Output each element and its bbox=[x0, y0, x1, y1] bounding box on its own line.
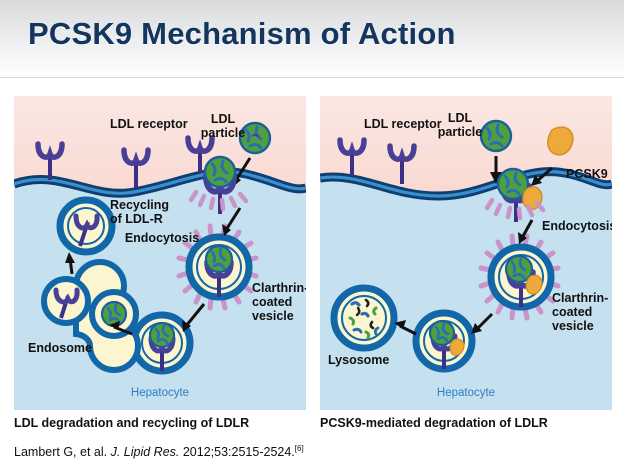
clathrin-label-line2: coated bbox=[252, 295, 292, 309]
ldl-label: LDL bbox=[211, 112, 236, 126]
diagram-panel-ldl-recycling: LDL receptor LDL particle Recycling of L… bbox=[14, 96, 306, 410]
ldl-particle-label: particle bbox=[438, 125, 483, 139]
citation-reference-number: [6] bbox=[295, 444, 304, 453]
panel-left-caption: LDL degradation and recycling of LDLR bbox=[14, 416, 249, 430]
recycling-label-line1: Recycling bbox=[110, 198, 169, 212]
diagram-panel-pcsk9-degradation: LDL receptor LDL particle PCSK9 Endocyto… bbox=[320, 96, 612, 410]
lysosome-label: Lysosome bbox=[328, 353, 389, 367]
page-title: PCSK9 Mechanism of Action bbox=[28, 16, 456, 52]
clathrin-label-line3: vesicle bbox=[252, 309, 294, 323]
citation-authors: Lambert G, et al. bbox=[14, 445, 107, 459]
ldl-particle-label: particle bbox=[201, 126, 246, 140]
recycling-label-line2: of LDL-R bbox=[110, 212, 163, 226]
clathrin-label-line2: coated bbox=[552, 305, 592, 319]
ldl-label: LDL bbox=[448, 111, 473, 125]
ldl-receptor-label: LDL receptor bbox=[364, 117, 442, 131]
panel-right-figure: LDL receptor LDL particle PCSK9 Endocyto… bbox=[320, 96, 612, 410]
citation-journal: J. Lipid Res. bbox=[111, 445, 180, 459]
recycling-vesicle bbox=[60, 200, 112, 252]
endosome-with-pcsk9 bbox=[416, 313, 472, 369]
uncoated-vesicle bbox=[134, 315, 190, 371]
slide-title-bar: PCSK9 Mechanism of Action bbox=[0, 0, 624, 78]
pcsk9-label: PCSK9 bbox=[566, 167, 608, 181]
ldl-receptor-label: LDL receptor bbox=[110, 117, 188, 131]
clathrin-label-line1: Clarthrin- bbox=[552, 291, 608, 305]
clathrin-label-line1: Clarthrin- bbox=[252, 281, 306, 295]
panel-left-figure: LDL receptor LDL particle Recycling of L… bbox=[14, 96, 306, 410]
panel-right-caption: PCSK9-mediated degradation of LDLR bbox=[320, 416, 548, 430]
hepatocyte-label: Hepatocyte bbox=[131, 387, 189, 399]
endocytosis-label: Endocytosis bbox=[542, 219, 612, 233]
hepatocyte-label: Hepatocyte bbox=[437, 387, 495, 399]
clathrin-label-line3: vesicle bbox=[552, 319, 594, 333]
citation-details: 2012;53:2515-2524. bbox=[183, 445, 295, 459]
citation-line: Lambert G, et al. J. Lipid Res. 2012;53:… bbox=[14, 444, 304, 459]
ldl-particle-free bbox=[481, 121, 511, 151]
endocytosis-label: Endocytosis bbox=[125, 231, 199, 245]
endosome-label: Endosome bbox=[28, 341, 92, 355]
pcsk9-molecule-free bbox=[548, 127, 573, 155]
lysosome bbox=[334, 288, 394, 348]
